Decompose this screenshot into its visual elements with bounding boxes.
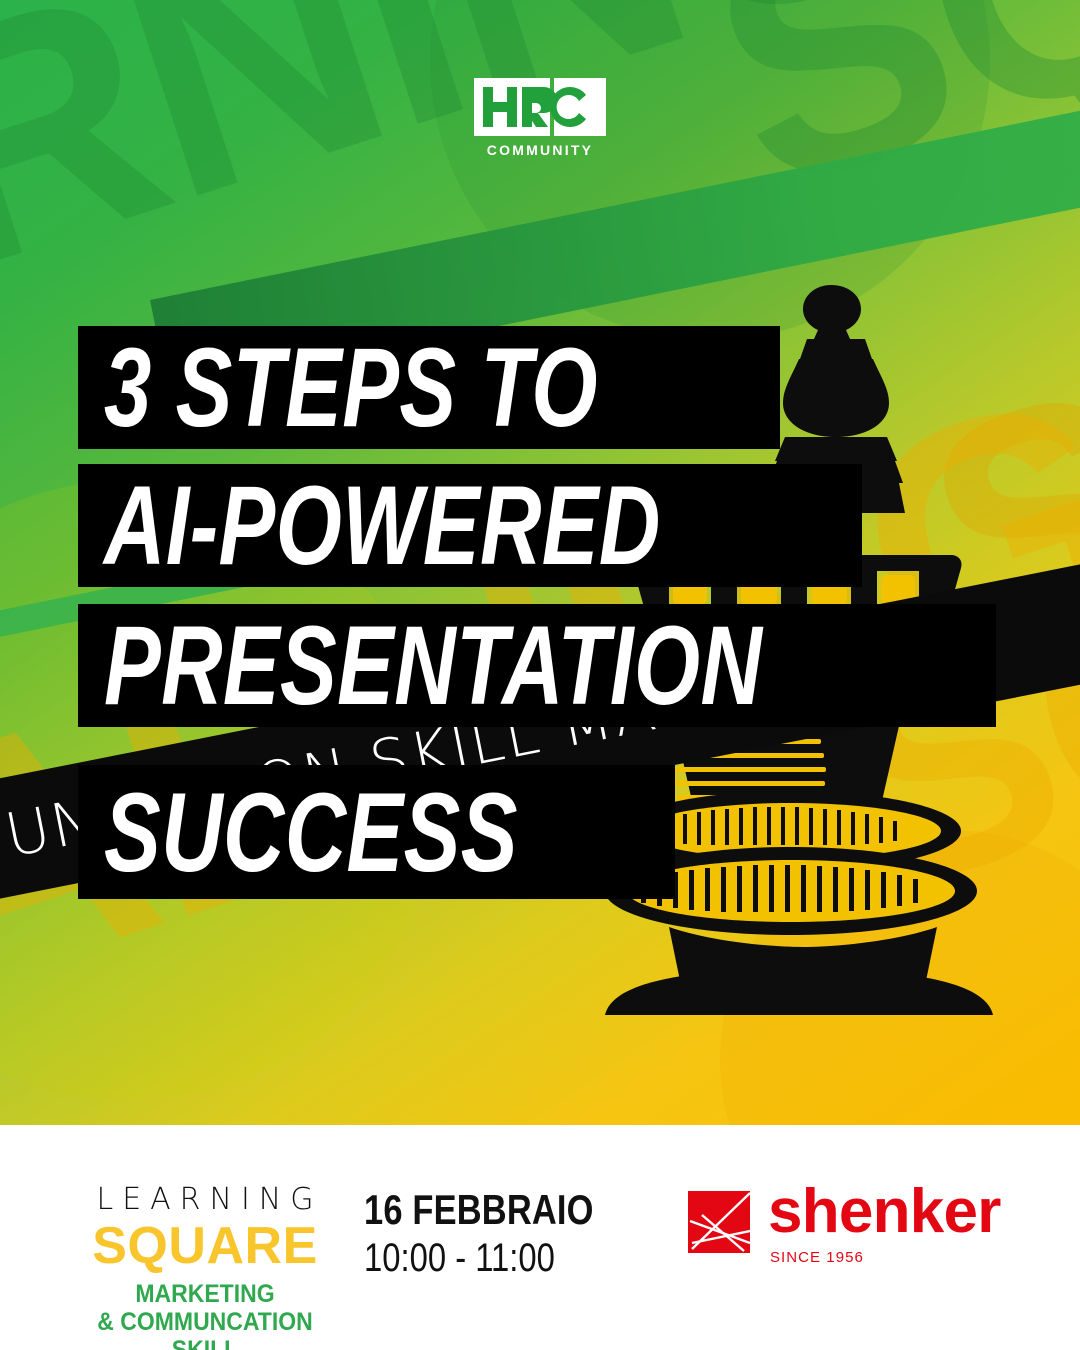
hrc-logo-letters xyxy=(474,78,606,136)
headline-line-3-text: PRESENTATION xyxy=(104,601,762,730)
learning-square-word-top: LEARNING xyxy=(80,1185,330,1215)
artwork-area: RNING SQ SU ARNING SQ xyxy=(0,0,1080,1125)
learning-square-logo: LEARNING SQUARE MARKETING & COMMUNCATION… xyxy=(80,1185,330,1350)
headline-line-4: SUCCESS xyxy=(78,765,675,899)
poster: RNING SQ SU ARNING SQ xyxy=(0,0,1080,1350)
shenker-wordmark: shenker xyxy=(768,1181,1001,1243)
event-date: 16 FEBBRAIO xyxy=(364,1187,594,1233)
shenker-tagline: SINCE 1956 xyxy=(770,1249,864,1266)
hrc-logo-subtitle: COMMUNITY xyxy=(474,142,606,158)
learning-square-subtitle-2: & COMMUNCATION SKILL xyxy=(90,1308,320,1350)
hrc-logo: COMMUNITY xyxy=(474,78,606,168)
event-time: 10:00 - 11:00 xyxy=(364,1233,594,1283)
headline-line-2-text: AI-POWERED xyxy=(104,461,661,590)
headline-line-3: PRESENTATION xyxy=(78,604,996,727)
footer-bar: LEARNING SQUARE MARKETING & COMMUNCATION… xyxy=(0,1125,1080,1350)
event-datetime: 16 FEBBRAIO 10:00 - 11:00 xyxy=(364,1187,644,1283)
shenker-mark-icon xyxy=(688,1191,750,1253)
headline-line-1: 3 STEPS TO xyxy=(78,326,780,449)
learning-square-subtitle-1: MARKETING xyxy=(90,1280,320,1308)
learning-square-word-main: SQUARE xyxy=(80,1219,330,1274)
headline-line-1-text: 3 STEPS TO xyxy=(104,323,598,452)
headline-line-2: AI-POWERED xyxy=(78,464,862,587)
headline-line-4-text: SUCCESS xyxy=(104,768,518,897)
shenker-logo: shenker SINCE 1956 xyxy=(688,1187,988,1277)
